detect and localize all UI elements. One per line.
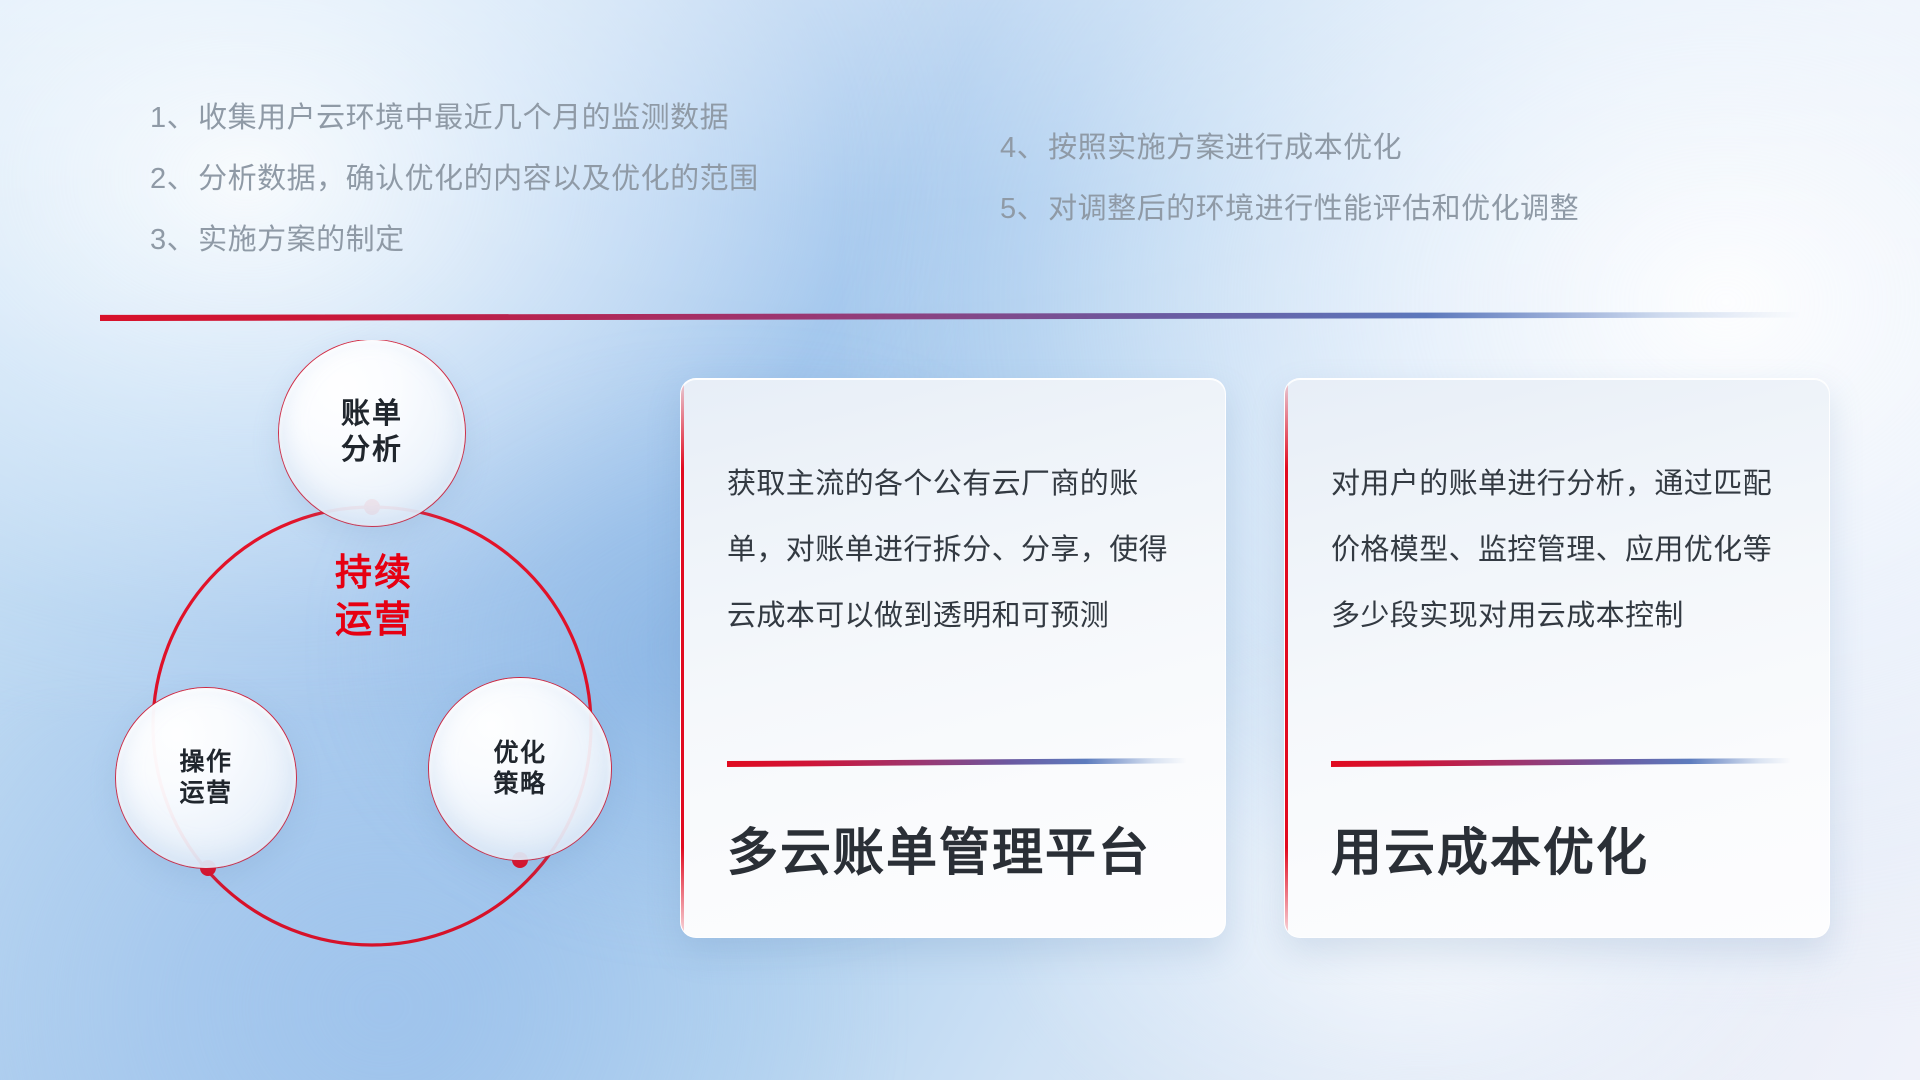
diagram-node-bill-analysis-line1: 账单	[341, 397, 403, 433]
diagram-center-label-line1: 持续	[279, 550, 469, 597]
step-text-2: 分析数据，确认优化的内容以及优化的范围	[198, 165, 759, 194]
step-number-3: 3、	[150, 226, 196, 255]
card-cloud-cost-optimization[interactable]: 对用户的账单进行分析，通过匹配价格模型、监控管理、应用优化等多少段实现对用云成本…	[1284, 378, 1830, 938]
diagram-node-optimization-strategy[interactable]: 优化 策略	[429, 678, 611, 860]
diagram-node-operations-line2: 运营	[179, 778, 232, 809]
diagram-node-bill-analysis-line2: 分析	[341, 433, 403, 469]
step-text-3: 实施方案的制定	[198, 226, 405, 255]
card-cloud-cost-optimization-body: 对用户的账单进行分析，通过匹配价格模型、监控管理、应用优化等多少段实现对用云成本…	[1285, 379, 1829, 758]
steps-column-right: 4、 按照实施方案进行成本优化 5、 对调整后的环境进行性能评估和优化调整	[1000, 134, 1579, 256]
diagram-center-label: 持续 运营	[279, 550, 469, 643]
step-text-1: 收集用户云环境中最近几个月的监测数据	[198, 104, 729, 133]
steps-section: 1、 收集用户云环境中最近几个月的监测数据 2、 分析数据，确认优化的内容以及优…	[0, 104, 1920, 294]
card-multicloud-billing[interactable]: 获取主流的各个公有云厂商的账单，对账单进行拆分、分享，使得云成本可以做到透明和可…	[680, 378, 1226, 938]
card-divider-bar	[727, 758, 1187, 767]
diagram-center-label-line2: 运营	[279, 597, 469, 644]
step-item-3: 3、 实施方案的制定	[150, 226, 759, 255]
step-number-5: 5、	[1000, 195, 1046, 224]
cards-section: 获取主流的各个公有云厂商的账单，对账单进行拆分、分享，使得云成本可以做到透明和可…	[680, 378, 1830, 938]
step-item-2: 2、 分析数据，确认优化的内容以及优化的范围	[150, 165, 759, 194]
step-item-5: 5、 对调整后的环境进行性能评估和优化调整	[1000, 195, 1579, 224]
card-cloud-cost-optimization-divider	[1331, 758, 1791, 767]
accent-divider-bar	[100, 312, 1800, 321]
step-number-4: 4、	[1000, 134, 1046, 163]
step-number-2: 2、	[150, 165, 196, 194]
diagram-node-optimization-strategy-line2: 策略	[493, 769, 546, 800]
step-text-5: 对调整后的环境进行性能评估和优化调整	[1048, 195, 1579, 224]
step-item-4: 4、 按照实施方案进行成本优化	[1000, 134, 1579, 163]
diagram-node-optimization-strategy-line1: 优化	[493, 738, 546, 769]
card-cloud-cost-optimization-title: 用云成本优化	[1285, 767, 1829, 937]
step-number-1: 1、	[150, 104, 196, 133]
card-divider-bar	[1331, 758, 1791, 767]
card-multicloud-billing-title: 多云账单管理平台	[681, 767, 1225, 937]
card-multicloud-billing-body: 获取主流的各个公有云厂商的账单，对账单进行拆分、分享，使得云成本可以做到透明和可…	[681, 379, 1225, 758]
diagram-node-operations-line1: 操作	[179, 747, 232, 778]
steps-column-left: 1、 收集用户云环境中最近几个月的监测数据 2、 分析数据，确认优化的内容以及优…	[150, 104, 759, 287]
venn-diagram: 账单 分析 操作 运营 优化 策略 持续 运营	[96, 340, 656, 960]
step-item-1: 1、 收集用户云环境中最近几个月的监测数据	[150, 104, 759, 133]
card-multicloud-billing-divider	[727, 758, 1187, 767]
accent-divider-rule	[100, 312, 1800, 321]
step-text-4: 按照实施方案进行成本优化	[1048, 134, 1402, 163]
diagram-node-operations[interactable]: 操作 运营	[116, 688, 296, 868]
diagram-node-bill-analysis[interactable]: 账单 分析	[279, 340, 465, 526]
